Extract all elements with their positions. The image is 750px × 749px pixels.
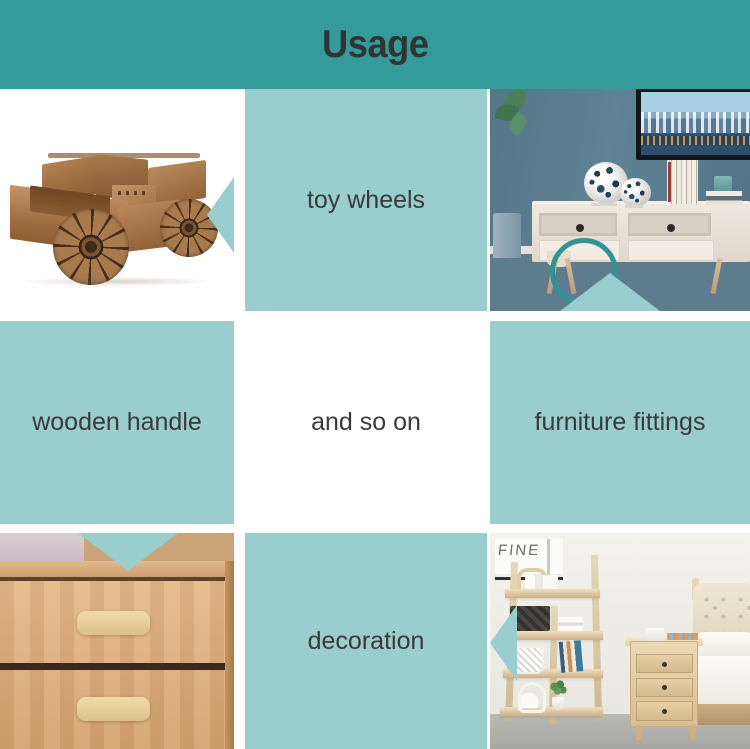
cell-drawers-photo [0,533,234,749]
usage-grid: toy wheels [0,89,750,749]
usage-infographic: Usage [0,0,750,749]
label-furniture-fittings: furniture fittings [490,321,750,524]
television [636,89,750,160]
drawer-handle [77,611,150,635]
shelf-board [505,631,602,640]
arrow-notch-left-icon [490,605,517,681]
nightstand-knob [662,662,667,667]
shelf-jars [525,575,557,589]
decorative-frame [518,682,546,712]
sphere-stand [591,203,617,206]
potted-plant [548,679,568,710]
trinkets [667,633,698,639]
plant-pot [552,697,564,710]
page-title: Usage [322,23,429,67]
stacked-books [706,191,742,204]
wooden-cart-photo [0,89,234,311]
potted-plant [495,91,537,144]
dresser-drawer-seam [0,663,234,670]
leaning-books [559,640,584,673]
cart-wheel-large [53,209,129,285]
cell-toy-wheels: toy wheels [245,89,487,311]
cell-living-room-photo [490,89,750,311]
ladder-shelf [500,555,625,728]
standing-books [667,160,698,204]
dresser-top-seam [0,577,234,581]
cart-seat-studs [118,191,150,195]
cart-shadow [22,277,212,286]
cell-wooden-handle: wooden handle [0,321,234,524]
arrow-notch-down-icon [78,533,178,571]
red-book-spine [668,162,671,202]
cell-and-so-on: and so on [245,321,487,524]
bedroom-photo: FINE [490,533,750,749]
console-drawer [628,240,714,261]
tv-screen-cityscape [641,92,750,155]
page-header-banner: Usage [0,0,750,89]
city-lights [641,136,750,145]
drawer-handle [77,697,150,721]
nightstand-knob [662,685,667,690]
cell-furniture-fittings: furniture fittings [490,321,750,524]
dresser-side-edge [225,561,234,749]
nightstand-knob [662,709,667,714]
cell-decoration: decoration [245,533,487,749]
decorative-sphere [620,178,651,207]
arrow-notch-up-icon [560,273,660,311]
label-toy-wheels: toy wheels [245,89,487,311]
nightstand-leg [636,725,641,740]
label-and-so-on: and so on [245,321,487,524]
floor-vase [493,213,522,257]
shelf-board [505,589,600,598]
sphere-stand [625,205,643,208]
candle-jar [714,176,732,192]
cell-wooden-cart-photo [0,89,234,311]
skyline-buildings [641,112,750,133]
label-wooden-handle: wooden handle [0,321,234,524]
arrow-notch-left-icon [207,177,234,253]
wooden-cart-illustration [8,145,222,285]
plant-foliage [549,679,567,698]
label-decoration: decoration [245,533,487,749]
nightstand-leg [690,725,695,740]
bed-frame [693,704,750,726]
cell-bedroom-photo: FINE [490,533,750,749]
cup [646,628,664,641]
stacked-plates [558,617,583,631]
